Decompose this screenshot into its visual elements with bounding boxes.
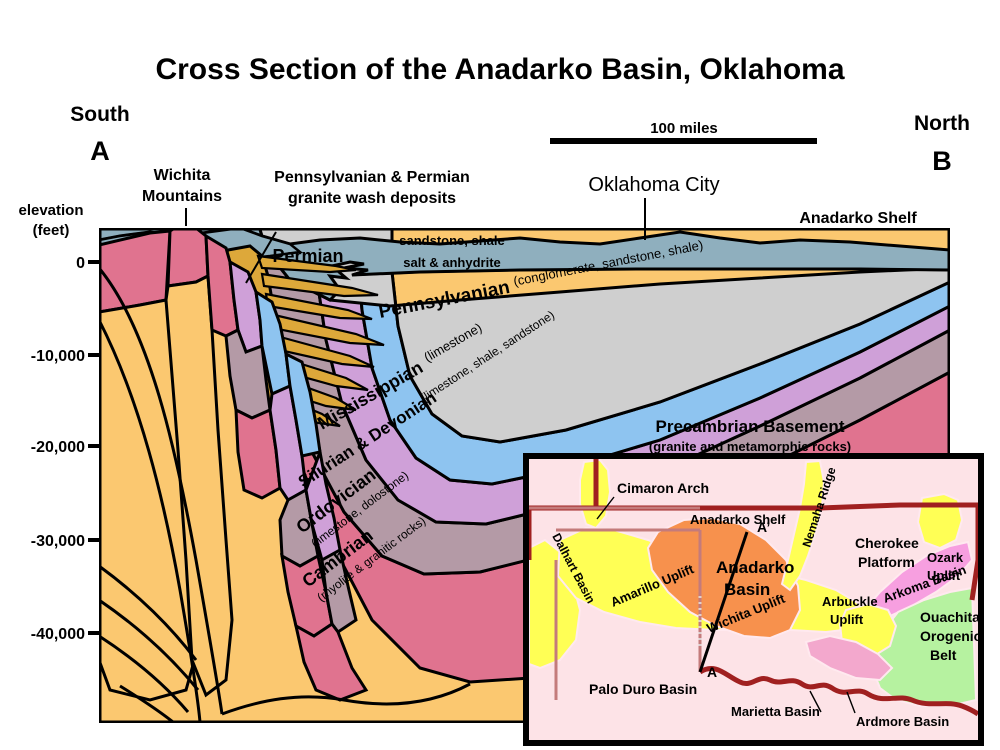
wichita-mountains-label-line1: Wichita	[154, 167, 211, 184]
anadarko-shelf-label: Anadarko Shelf	[799, 210, 917, 227]
map-label-anadarko-basin-line2: Basin	[724, 580, 770, 599]
unit-label-precambrian-line2: (granite and metamorphic rocks)	[649, 439, 851, 454]
section-endpoint-b: B	[932, 146, 952, 176]
transect-label-a: A	[707, 664, 717, 680]
inset-map[interactable]: A’ A Cimaron Arch Anadarko Shelf Anadark…	[526, 456, 982, 743]
map-label-ouachita-line1: Ouachita	[920, 609, 980, 625]
axis-title-line2: (feet)	[33, 222, 70, 239]
unit-label-salt-anhydrite: salt & anhydrite	[403, 255, 501, 270]
axis-title-line1: elevation	[18, 202, 83, 219]
map-label-ardmore-basin: Ardmore Basin	[856, 714, 949, 729]
map-label-anadarko-shelf: Anadarko Shelf	[690, 512, 786, 527]
unit-label-precambrian-line1: Precambrian Basement	[656, 417, 845, 436]
unit-label-permian-lithology: sandstone, shale	[399, 233, 504, 248]
map-label-palo-duro-basin: Palo Duro Basin	[589, 681, 697, 697]
oklahoma-city-label: Oklahoma City	[588, 174, 719, 196]
map-label-cherokee-platform-line1: Cherokee	[855, 535, 919, 551]
section-endpoint-a: A	[90, 136, 110, 166]
north-label: North	[914, 112, 970, 135]
map-label-ouachita-line2: Orogenic	[920, 628, 982, 644]
map-label-cimaron-arch: Cimaron Arch	[617, 480, 709, 496]
map-label-arbuckle-uplift-line1: Arbuckle	[822, 594, 878, 609]
wichita-mountains-label-line2: Mountains	[142, 188, 222, 205]
map-label-cherokee-platform-line2: Platform	[858, 554, 915, 570]
granite-wash-label-line1: Pennsylvanian & Permian	[274, 169, 470, 186]
axis-tick-label: -10,000	[31, 348, 85, 365]
unit-label-permian: Permian	[272, 246, 343, 266]
province-ozark-uplift[interactable]	[918, 494, 962, 548]
axis-tick-label: -30,000	[31, 533, 85, 550]
map-label-anadarko-basin-line1: Anadarko	[716, 558, 794, 577]
south-label: South	[70, 103, 129, 126]
scale-bar-label: 100 miles	[650, 120, 718, 137]
map-label-ouachita-line3: Belt	[930, 647, 957, 663]
map-label-marietta-basin: Marietta Basin	[731, 704, 820, 719]
axis-tick-label: -40,000	[31, 626, 85, 643]
page-title: Cross Section of the Anadarko Basin, Okl…	[155, 53, 844, 86]
map-label-arbuckle-uplift-line2: Uplift	[830, 612, 864, 627]
axis-tick-label: -20,000	[31, 439, 85, 456]
axis-tick-label: 0	[76, 255, 85, 272]
granite-wash-label-line2: granite wash deposits	[288, 190, 456, 207]
